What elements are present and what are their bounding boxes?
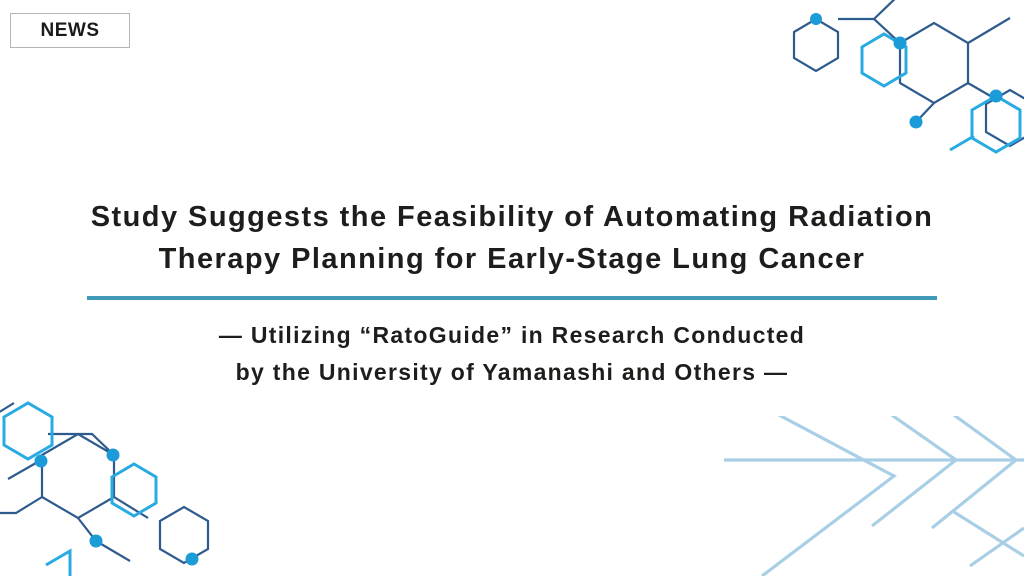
hexagon-network-top-right-icon	[764, 0, 1024, 175]
title-divider	[87, 296, 937, 300]
headline-block: Study Suggests the Feasibility of Automa…	[0, 196, 1024, 391]
subtitle-line-1: — Utilizing “RatoGuide” in Research Cond…	[0, 317, 1024, 354]
subtitle-line-2: by the University of Yamanashi and Other…	[0, 354, 1024, 391]
news-banner: NEWS Study Suggests the Feasibility of A…	[0, 0, 1024, 576]
chevron-arrows-bottom-right-icon	[724, 416, 1024, 576]
news-badge: NEWS	[10, 13, 130, 48]
headline-line-2: Therapy Planning for Early-Stage Lung Ca…	[0, 238, 1024, 280]
news-badge-label: NEWS	[41, 21, 100, 40]
headline-line-1: Study Suggests the Feasibility of Automa…	[0, 196, 1024, 238]
subtitle-block: — Utilizing “RatoGuide” in Research Cond…	[0, 317, 1024, 391]
hexagon-network-bottom-left-icon	[0, 401, 250, 576]
